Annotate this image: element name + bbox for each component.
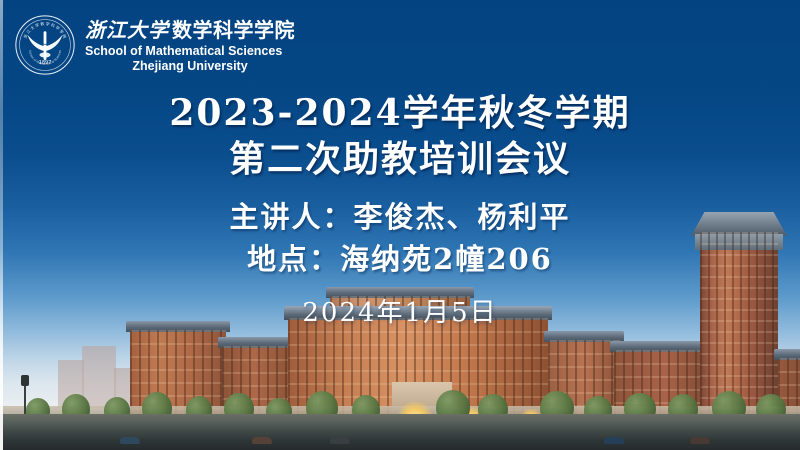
- date-line: 2024年1月5日: [0, 292, 800, 329]
- school-logo-lockup: 1897 浙 江 大 学 数 学 科 学 学 院 School of Mathe…: [14, 14, 295, 76]
- slide-title-line-1: 2023-2024学年秋冬学期: [0, 90, 800, 136]
- vehicle: [690, 437, 710, 444]
- logo-chinese-line: 浙江大学数学科学学院: [85, 20, 295, 40]
- vehicle: [604, 437, 624, 444]
- zhejiang-university-crest-icon: 1897 浙 江 大 学 数 学 科 学 学 院 School of Mathe…: [14, 14, 76, 76]
- logo-wordmark: 浙江大学数学科学学院 School of Mathematical Scienc…: [85, 18, 295, 72]
- slide-title-line-2: 第二次助教培训会议: [0, 136, 800, 182]
- logo-english-line2: Zhejiang University: [85, 60, 295, 73]
- speaker-line: 主讲人：李俊杰、杨利平: [0, 196, 800, 238]
- logo-university-cn: 浙江大学: [85, 18, 169, 42]
- presentation-slide: 1897 浙 江 大 学 数 学 科 学 学 院 School of Mathe…: [0, 0, 800, 450]
- roadway: [0, 414, 800, 450]
- slide-text-block: 2023-2024学年秋冬学期 第二次助教培训会议 主讲人：李俊杰、杨利平 地点…: [0, 90, 800, 329]
- logo-school-cn: 数学科学学院: [172, 18, 295, 42]
- vehicle: [252, 437, 272, 444]
- location-line: 地点：海纳苑2幢206: [0, 238, 800, 280]
- vehicle: [330, 437, 350, 444]
- slide-left-edge: [0, 0, 3, 450]
- logo-english-line1: School of Mathematical Sciences: [85, 45, 295, 58]
- vehicle: [120, 437, 140, 444]
